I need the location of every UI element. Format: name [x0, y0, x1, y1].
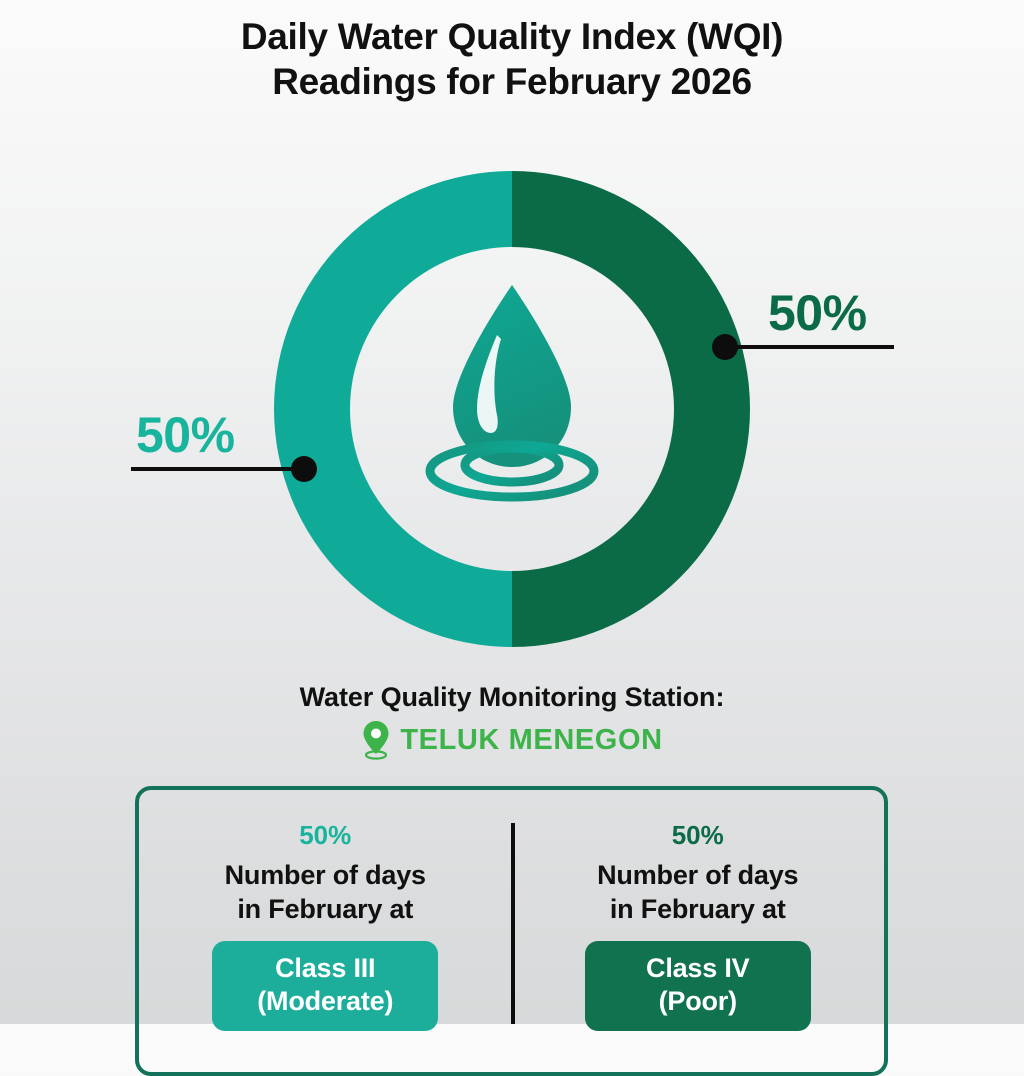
water-drop-icon	[393, 277, 631, 507]
class-card-description: Number of days in February at	[139, 859, 512, 927]
map-pin-icon	[361, 720, 391, 760]
class-card-percent: 50%	[139, 822, 512, 848]
leader-dot-left	[291, 456, 317, 482]
page-title-line-2: Readings for February 2026	[0, 59, 1024, 104]
page-title-line-1: Daily Water Quality Index (WQI)	[0, 14, 1024, 59]
panel-divider	[511, 823, 515, 1024]
class-card-percent: 50%	[512, 822, 885, 848]
station-caption: Water Quality Monitoring Station:	[0, 682, 1024, 713]
class-card-moderate: 50% Number of days in February at Class …	[139, 790, 512, 1072]
class-card-description-line-1: Number of days	[512, 859, 885, 893]
class-pill-line-2: (Poor)	[585, 985, 811, 1018]
class-card-description-line-2: in February at	[139, 893, 512, 927]
class-card-description: Number of days in February at	[512, 859, 885, 927]
class-card-description-line-2: in February at	[512, 893, 885, 927]
page-title: Daily Water Quality Index (WQI) Readings…	[0, 14, 1024, 104]
class-pill-line-1: Class IV	[585, 952, 811, 985]
leader-line-left	[131, 467, 307, 471]
donut-label-left: 50%	[136, 410, 235, 460]
water-drop-body	[453, 285, 571, 467]
leader-dot-right	[712, 334, 738, 360]
class-pill-moderate[interactable]: Class III (Moderate)	[212, 941, 438, 1032]
donut-label-right: 50%	[768, 288, 867, 338]
class-pill-poor[interactable]: Class IV (Poor)	[585, 941, 811, 1032]
class-card-poor: 50% Number of days in February at Class …	[512, 790, 885, 1072]
leader-line-right	[722, 345, 894, 349]
class-pill-line-1: Class III	[212, 952, 438, 985]
station-name-row: TELUK MENEGON	[0, 720, 1024, 760]
class-card-description-line-1: Number of days	[139, 859, 512, 893]
class-pill-line-2: (Moderate)	[212, 985, 438, 1018]
station-name: TELUK MENEGON	[400, 724, 662, 757]
